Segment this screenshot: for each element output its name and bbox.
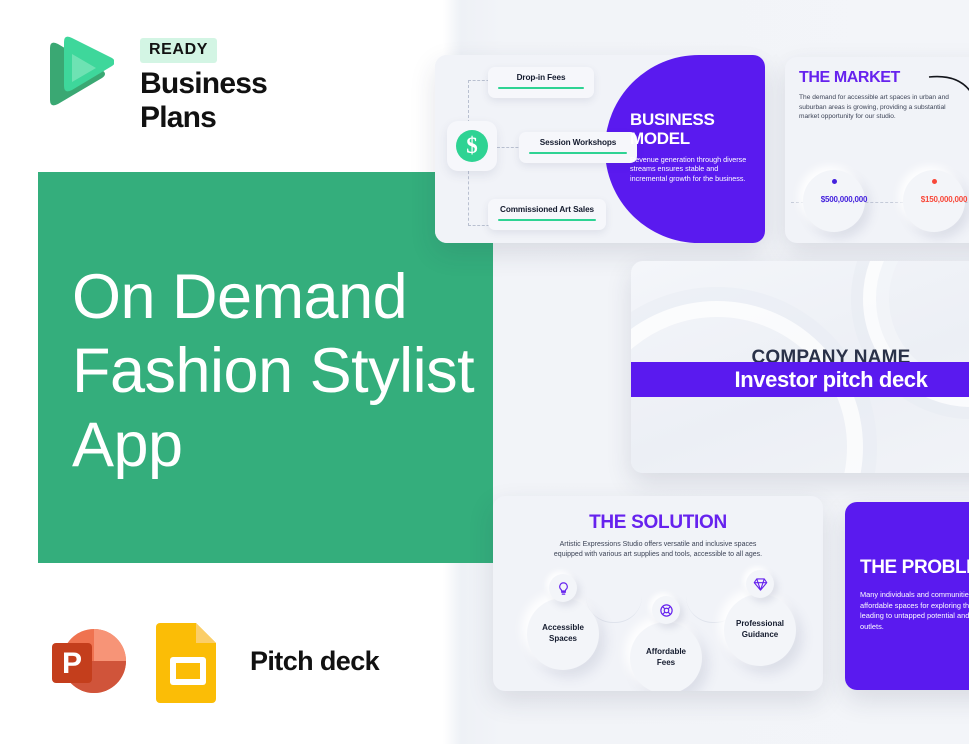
solution-pillar[interactable]: Accessible Spaces <box>527 598 599 670</box>
solution-pillar-label: Accessible Spaces <box>531 622 595 644</box>
solution-pillar[interactable]: Professional Guidance <box>724 594 796 666</box>
market-metric-dot <box>932 179 937 184</box>
dollar-sign-icon: $ <box>456 130 488 162</box>
underline-accent <box>498 87 584 89</box>
page-title: On Demand Fashion Stylist App <box>72 260 502 482</box>
solution-title: THE SOLUTION <box>493 512 823 534</box>
format-badges-row: P Pitch deck <box>46 616 379 706</box>
lifebuoy-icon <box>652 596 680 624</box>
brand-logo[interactable]: READY Business Plans <box>42 34 342 116</box>
slide-preview-business-model[interactable]: $ Drop-in Fees Session Workshops Commiss… <box>435 55 765 243</box>
curved-arrow-icon <box>927 71 969 115</box>
solution-pillar-label: Affordable Fees <box>634 646 698 668</box>
brand-logo-text: READY Business Plans <box>140 38 342 135</box>
svg-text:P: P <box>62 647 82 680</box>
hero-green-block: On Demand Fashion Stylist App <box>38 172 493 563</box>
business-model-icon-box: $ <box>447 121 497 171</box>
underline-accent <box>529 152 627 154</box>
revenue-stream-label: Session Workshops <box>529 138 627 147</box>
play-triangle-logo-icon <box>42 36 114 112</box>
business-model-title: BUSINESS MODEL <box>630 110 755 148</box>
revenue-stream-item[interactable]: Session Workshops <box>519 132 637 163</box>
problem-title: THE PROBLEM <box>860 557 969 579</box>
poster-canvas: On Demand Fashion Stylist App READY Busi… <box>0 0 969 744</box>
diamond-icon <box>746 570 774 598</box>
connector-line <box>468 171 469 226</box>
slide-preview-the-solution[interactable]: THE SOLUTION Artistic Expressions Studio… <box>493 496 823 691</box>
problem-body: Many individuals and communities lack ac… <box>860 590 969 632</box>
underline-accent <box>498 219 596 221</box>
solution-body: Artistic Expressions Studio offers versa… <box>551 540 765 561</box>
pitch-deck-label: Pitch deck <box>250 646 379 677</box>
revenue-stream-item[interactable]: Commissioned Art Sales <box>488 199 606 230</box>
market-metric-value: $150,000,000 <box>885 195 969 204</box>
solution-pillar-label: Professional Guidance <box>728 618 792 640</box>
market-metric-dot <box>832 179 837 184</box>
business-model-body: Revenue generation through diverse strea… <box>630 155 752 183</box>
market-title: THE MARKET <box>799 69 900 87</box>
brand-name: Business Plans <box>140 67 342 135</box>
lightbulb-icon <box>549 574 577 602</box>
company-subtitle: Investor pitch deck <box>631 367 969 393</box>
revenue-stream-label: Commissioned Art Sales <box>498 205 596 214</box>
slide-preview-the-market[interactable]: THE MARKET The demand for accessible art… <box>785 57 969 243</box>
revenue-stream-item[interactable]: Drop-in Fees <box>488 67 594 98</box>
slide-preview-the-problem[interactable]: THE PROBLEM Many individuals and communi… <box>845 502 969 690</box>
revenue-stream-label: Drop-in Fees <box>498 73 584 82</box>
ready-badge: READY <box>140 38 217 63</box>
solution-pillar[interactable]: Affordable Fees <box>630 622 702 691</box>
slide-preview-company-cover[interactable]: COMPANY NAME Investor pitch deck <box>631 261 969 473</box>
google-slides-file-icon <box>156 619 220 703</box>
powerpoint-file-icon: P <box>46 617 134 705</box>
